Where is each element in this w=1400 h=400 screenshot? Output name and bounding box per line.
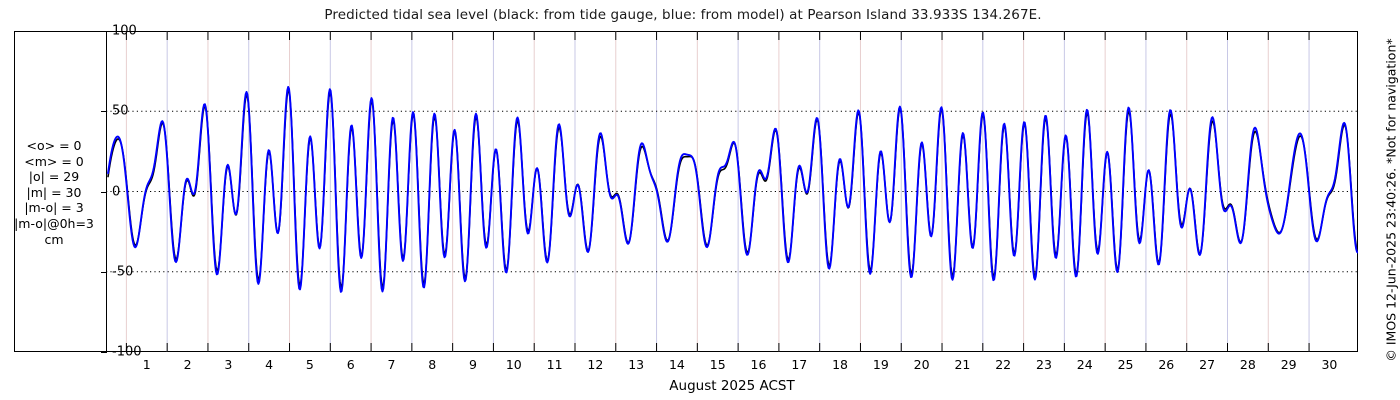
x-axis-tick-label: 8 (428, 357, 436, 372)
y-axis-tick-label: -50 (112, 264, 133, 279)
stat-mean-observed: <o> = 0 (8, 138, 100, 154)
x-axis-tick-label: 13 (628, 357, 644, 372)
x-axis-title: August 2025 ACST (106, 378, 1358, 394)
stat-abs-diff: |m-o| = 3 (8, 200, 100, 216)
x-axis-tick-label: 26 (1158, 357, 1174, 372)
x-axis-tick-label: 20 (914, 357, 930, 372)
x-axis-tick-label: 15 (710, 357, 726, 372)
tide-series-svg (106, 31, 1358, 352)
copyright-text: © IMOS 12-Jun-2025 23:40:26. *Not for na… (1384, 38, 1399, 361)
x-axis-tick-label: 25 (1118, 357, 1134, 372)
x-axis-tick-label: 10 (506, 357, 522, 372)
y-axis-tick-label: -100 (112, 345, 142, 360)
y-axis-tick-mark (101, 192, 107, 193)
y-axis-tick-label: 0 (112, 184, 120, 199)
x-axis-tick-label: 9 (469, 357, 477, 372)
y-axis-tick-mark (101, 111, 107, 112)
x-axis-tick-label: 17 (791, 357, 807, 372)
y-axis-tick-mark (101, 352, 107, 353)
y-axis-tick-label: 100 (112, 24, 137, 39)
y-axis-tick-mark (101, 31, 107, 32)
x-axis-tick-label: 30 (1321, 357, 1337, 372)
x-axis-tick-label: 12 (587, 357, 603, 372)
x-axis-tick-label: 29 (1281, 357, 1297, 372)
series-line-tide-gauge (108, 90, 1358, 287)
x-axis-tick-label: 5 (306, 357, 314, 372)
x-axis-tick-label: 6 (347, 357, 355, 372)
x-axis-tick-label: 27 (1199, 357, 1215, 372)
x-axis-tick-label: 1 (143, 357, 151, 372)
statistics-block: <o> = 0 <m> = 0 |o| = 29 |m| = 30 |m-o| … (8, 138, 100, 247)
plot-area (106, 31, 1358, 352)
stat-units: cm (8, 232, 100, 248)
stat-abs-diff-at-0h: |m-o|@0h=3 (8, 216, 100, 232)
x-axis-tick-label: 2 (184, 357, 192, 372)
stat-mean-model: <m> = 0 (8, 154, 100, 170)
x-axis-tick-label: 16 (751, 357, 767, 372)
x-axis-tick-label: 11 (547, 357, 563, 372)
x-axis-tick-label: 21 (954, 357, 970, 372)
x-axis-tick-label: 3 (224, 357, 232, 372)
x-axis-tick-label: 19 (873, 357, 889, 372)
x-axis-tick-label: 22 (995, 357, 1011, 372)
x-axis-tick-label: 4 (265, 357, 273, 372)
y-axis-tick-mark (101, 272, 107, 273)
y-axis-tick-label: 50 (112, 104, 129, 119)
tidal-chart-page: Predicted tidal sea level (black: from t… (0, 0, 1400, 400)
x-axis-tick-label: 18 (832, 357, 848, 372)
copyright-notice: © IMOS 12-Jun-2025 23:40:26. *Not for na… (1381, 0, 1400, 400)
page-title: Predicted tidal sea level (black: from t… (0, 7, 1366, 23)
x-axis-tick-label: 23 (1036, 357, 1052, 372)
stat-abs-model: |m| = 30 (8, 185, 100, 201)
x-axis-tick-label: 24 (1077, 357, 1093, 372)
series-line-model (108, 87, 1358, 292)
x-axis-tick-label: 28 (1240, 357, 1256, 372)
x-axis-tick-label: 14 (669, 357, 685, 372)
x-axis-tick-label: 7 (387, 357, 395, 372)
stat-abs-observed: |o| = 29 (8, 169, 100, 185)
